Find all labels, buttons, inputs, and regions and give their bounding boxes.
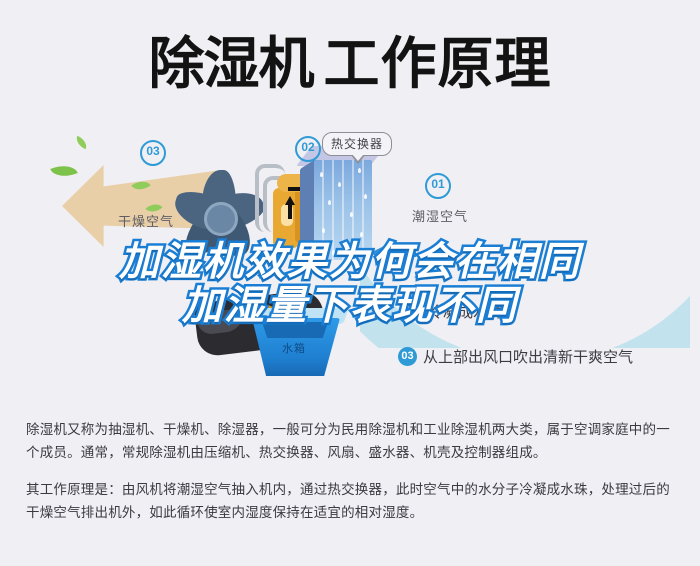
page-title: 除湿机工作原理	[0, 30, 700, 100]
caption-step-03-badge: 03	[398, 347, 417, 366]
body-text: 除湿机又称为抽湿机、干燥机、除湿器，一般可分为民用除湿机和工业除湿机两大类，属于…	[26, 418, 676, 524]
water-tank-inner	[262, 322, 328, 338]
body-paragraph-1: 除湿机又称为抽湿机、干燥机、除湿器，一般可分为民用除湿机和工业除湿机两大类，属于…	[26, 418, 676, 464]
page-title-part1: 除湿机	[149, 32, 314, 97]
humid-air-label: 潮湿空气	[412, 206, 468, 225]
leaf-icon	[74, 136, 90, 150]
water-tank-label: 水箱	[282, 340, 306, 356]
machine-base-part	[196, 308, 244, 335]
step-badge-01: 01	[425, 173, 451, 199]
arrow-up-icon	[285, 196, 295, 205]
heat-exchanger-face	[314, 160, 372, 260]
leaf-icon	[50, 160, 77, 182]
body-paragraph-2: 其工作原理是：由风机将潮湿空气抽入机内，通过热交换器，此时空气中的水分子冷凝成水…	[26, 478, 676, 524]
dehumidifier-diagram: 干燥空气	[0, 118, 700, 398]
caption-step-02: 发器冷凝成水珠	[398, 301, 503, 322]
water-tank: 水箱	[248, 308, 346, 380]
heat-exchanger-callout: 热交换器	[322, 132, 392, 156]
caption-step-03: 03 从上部出风口吹出清新干爽空气	[398, 346, 633, 367]
caption-step-03-text: 从上部出风口吹出清新干爽空气	[423, 346, 633, 367]
air-inlet-arrow-icon	[370, 246, 416, 260]
infographic-page: 除湿机工作原理 干燥空气	[0, 0, 700, 566]
fan-icon	[160, 164, 268, 260]
fan-hub	[204, 202, 238, 236]
caption-step-02-text: 发器冷凝成水珠	[398, 301, 503, 322]
step-badge-02: 02	[295, 136, 321, 162]
page-title-part2: 工作原理	[324, 32, 552, 97]
step-badge-03: 03	[140, 140, 166, 166]
